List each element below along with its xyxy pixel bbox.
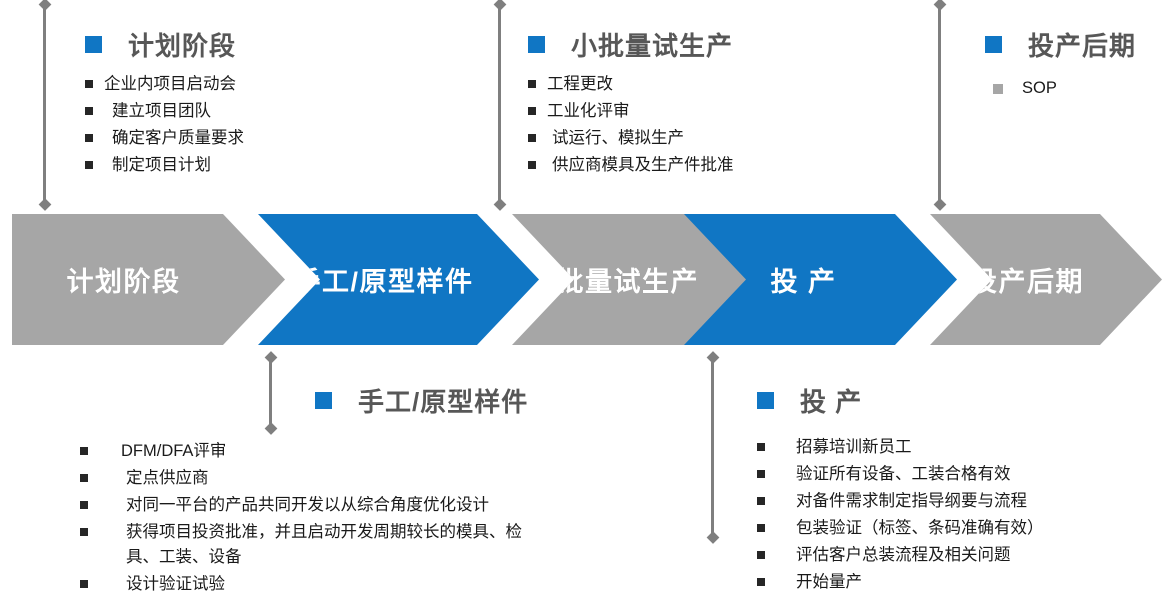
bullet-square-icon xyxy=(85,107,93,115)
bullet-square-icon xyxy=(80,580,88,588)
connector-cap-top xyxy=(933,0,946,11)
list-item: 对同一平台的产品共同开发以从综合角度优化设计 xyxy=(80,493,670,518)
bullet-square-icon xyxy=(757,578,765,586)
callout-bullet-list: SOP xyxy=(993,76,1136,101)
bullet-square-icon xyxy=(80,501,88,509)
list-item-label: 包装验证（标签、条码准确有效） xyxy=(796,516,1044,541)
list-item-label: 制定项目计划 xyxy=(112,153,211,178)
list-item: 获得项目投资批准，并且启动开发周期较长的模具、检具、工装、设备 xyxy=(80,520,670,570)
bullet-square-icon xyxy=(757,524,765,532)
list-item-label: 验证所有设备、工装合格有效 xyxy=(796,462,1011,487)
stage-label: 投 产 xyxy=(770,260,836,299)
bullet-square-icon xyxy=(528,80,536,88)
callout-title-text: 小批量试生产 xyxy=(571,26,733,63)
callout-prototype: 手工/原型样件 DFM/DFA评审 定点供应商 对同一平台的产品共同开发以从综合… xyxy=(80,382,670,599)
callout-title-prototype: 手工/原型样件 xyxy=(315,382,670,419)
list-item: 工业化评审 xyxy=(528,99,734,124)
callout-title-pilot: 小批量试生产 xyxy=(528,26,734,63)
list-item-label: 企业内项目启动会 xyxy=(104,72,236,97)
callout-title-text: 手工/原型样件 xyxy=(358,382,528,419)
blue-square-icon xyxy=(315,392,332,409)
list-item: 试运行、模拟生产 xyxy=(528,126,734,151)
list-item-label: 招募培训新员工 xyxy=(796,435,912,460)
list-item-label: 工业化评审 xyxy=(547,99,630,124)
callout-title-text: 投产后期 xyxy=(1028,26,1136,63)
list-item-label: 工程更改 xyxy=(547,72,613,97)
list-item-label: 对同一平台的产品共同开发以从综合角度优化设计 xyxy=(126,493,489,518)
list-item: 建立项目团队 xyxy=(85,99,244,124)
blue-square-icon xyxy=(528,36,545,53)
list-item: 招募培训新员工 xyxy=(757,435,1157,460)
connector-line-planning xyxy=(43,4,46,205)
list-item-label: 开始量产 xyxy=(796,570,862,595)
callout-title-text: 计划阶段 xyxy=(128,26,236,63)
stage-segment-post-production[interactable]: 投产后期 xyxy=(930,214,1162,345)
stage-label: 小批量试生产 xyxy=(528,260,699,299)
callout-bullet-list: 招募培训新员工 验证所有设备、工装合格有效 对备件需求制定指导纲要与流程 包装验… xyxy=(757,435,1157,595)
list-item: 评估客户总装流程及相关问题 xyxy=(757,543,1157,568)
list-item-label: 确定客户质量要求 xyxy=(112,126,244,151)
connector-cap-top xyxy=(493,0,506,11)
list-item-label: SOP xyxy=(1022,76,1057,101)
list-item: DFM/DFA评审 xyxy=(80,439,670,464)
list-item: 确定客户质量要求 xyxy=(85,126,244,151)
bullet-square-icon xyxy=(85,80,93,88)
bullet-square-icon xyxy=(528,161,536,169)
connector-line-production xyxy=(711,357,714,538)
bullet-square-icon xyxy=(528,107,536,115)
bullet-square-icon xyxy=(528,134,536,142)
list-item-label: 建立项目团队 xyxy=(112,99,211,124)
callout-production: 投 产 招募培训新员工 验证所有设备、工装合格有效 对备件需求制定指导纲要与流程… xyxy=(757,382,1157,597)
callout-bullet-list: 企业内项目启动会 建立项目团队 确定客户质量要求 制定项目计划 xyxy=(85,72,244,178)
list-item-label: 对备件需求制定指导纲要与流程 xyxy=(796,489,1027,514)
callout-bullet-list: DFM/DFA评审 定点供应商 对同一平台的产品共同开发以从综合角度优化设计 获… xyxy=(80,439,670,597)
bullet-square-icon xyxy=(85,161,93,169)
bullet-square-icon xyxy=(757,497,765,505)
connector-cap-bottom xyxy=(38,198,51,211)
callout-title-post-production: 投产后期 xyxy=(985,26,1136,63)
blue-square-icon xyxy=(85,36,102,53)
connector-cap-bottom xyxy=(933,198,946,211)
bullet-square-icon xyxy=(85,134,93,142)
connector-cap-top xyxy=(38,0,51,11)
list-item: SOP xyxy=(993,76,1136,101)
connector-cap-top xyxy=(264,351,277,364)
stage-label: 投产后期 xyxy=(970,260,1084,299)
list-item-label: 获得项目投资批准，并且启动开发周期较长的模具、检具、工装、设备 xyxy=(126,520,546,570)
process-diagram: 计划阶段 企业内项目启动会 建立项目团队 确定客户质量要求 制定项目计划 xyxy=(0,0,1175,615)
blue-square-icon xyxy=(985,36,1002,53)
connector-cap-top xyxy=(706,351,719,364)
stage-segment-planning[interactable]: 计划阶段 xyxy=(12,214,285,345)
list-item: 定点供应商 xyxy=(80,466,670,491)
list-item: 工程更改 xyxy=(528,72,734,97)
list-item: 制定项目计划 xyxy=(85,153,244,178)
list-item-label: DFM/DFA评审 xyxy=(121,439,226,464)
list-item: 设计验证试验 xyxy=(80,572,670,597)
list-item-label: 评估客户总装流程及相关问题 xyxy=(796,543,1011,568)
bullet-square-icon xyxy=(80,447,88,455)
bullet-square-icon xyxy=(80,474,88,482)
stage-segment-prototype[interactable]: 手工/原型样件 xyxy=(258,214,539,345)
process-stage-banner: 计划阶段 手工/原型样件 小批量试生产 投 产 投产后期 xyxy=(12,214,1162,345)
bullet-square-icon xyxy=(757,443,765,451)
callout-title-text: 投 产 xyxy=(800,382,862,419)
list-item: 包装验证（标签、条码准确有效） xyxy=(757,516,1157,541)
list-item: 企业内项目启动会 xyxy=(85,72,244,97)
list-item: 验证所有设备、工装合格有效 xyxy=(757,462,1157,487)
bullet-square-icon xyxy=(80,528,88,536)
bullet-square-icon xyxy=(757,551,765,559)
connector-cap-bottom xyxy=(706,531,719,544)
bullet-square-icon xyxy=(757,470,765,478)
stage-label: 计划阶段 xyxy=(67,260,181,299)
callout-pilot: 小批量试生产 工程更改 工业化评审 试运行、模拟生产 供应商模具及生产件批准 xyxy=(528,26,734,180)
connector-line-pilot xyxy=(498,4,501,205)
list-item-label: 设计验证试验 xyxy=(126,572,225,597)
blue-square-icon xyxy=(757,392,774,409)
connector-cap-bottom xyxy=(493,198,506,211)
list-item: 供应商模具及生产件批准 xyxy=(528,153,734,178)
callout-title-production: 投 产 xyxy=(757,382,1157,419)
callout-post-production: 投产后期 SOP xyxy=(985,26,1136,103)
list-item-label: 供应商模具及生产件批准 xyxy=(552,153,734,178)
callout-planning: 计划阶段 企业内项目启动会 建立项目团队 确定客户质量要求 制定项目计划 xyxy=(85,26,244,180)
callout-title-planning: 计划阶段 xyxy=(85,26,244,63)
list-item-label: 试运行、模拟生产 xyxy=(552,126,684,151)
list-item: 对备件需求制定指导纲要与流程 xyxy=(757,489,1157,514)
stage-label: 手工/原型样件 xyxy=(293,260,473,299)
callout-bullet-list: 工程更改 工业化评审 试运行、模拟生产 供应商模具及生产件批准 xyxy=(528,72,734,178)
connector-line-post xyxy=(938,4,941,205)
bullet-square-icon xyxy=(993,84,1003,94)
list-item-label: 定点供应商 xyxy=(126,466,209,491)
list-item: 开始量产 xyxy=(757,570,1157,595)
